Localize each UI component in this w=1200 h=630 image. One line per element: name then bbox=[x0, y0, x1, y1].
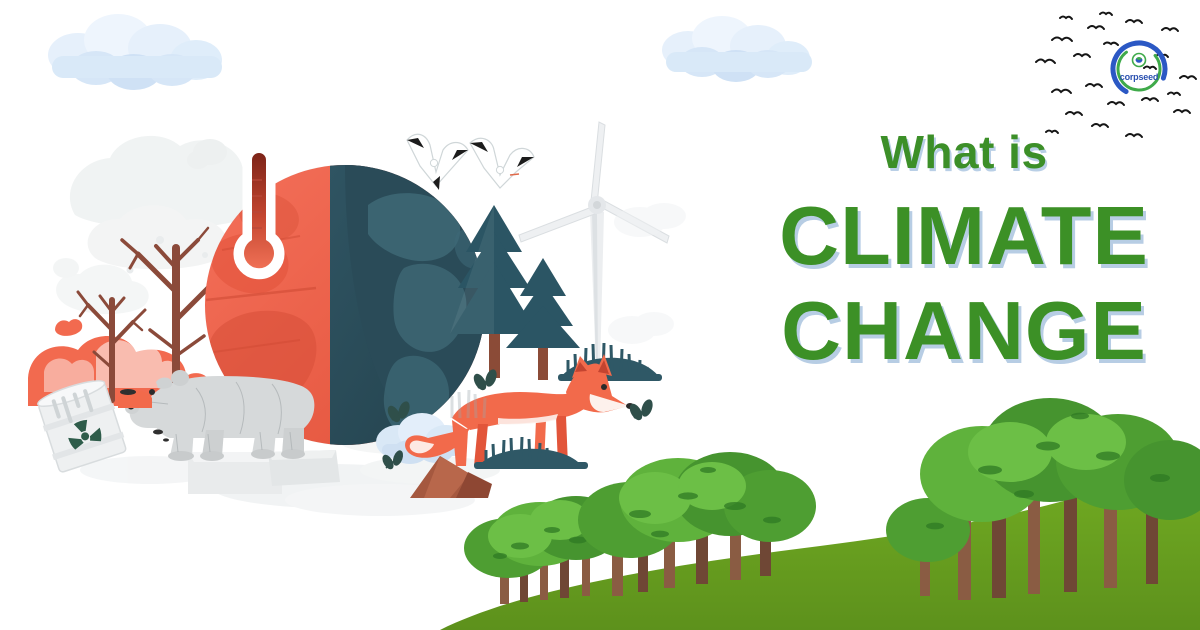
headline-line-2: CHANGE bbox=[744, 285, 1184, 378]
logo-ring-icon bbox=[1108, 38, 1170, 100]
logo-wordmark: corpseed bbox=[1108, 72, 1170, 82]
grass-tuft-fox bbox=[474, 437, 588, 469]
headline-block: What is CLIMATE CHANGE bbox=[744, 128, 1184, 378]
cloud-top-left bbox=[48, 14, 222, 90]
seagull-right bbox=[470, 138, 534, 188]
headline-line-1: CLIMATE bbox=[744, 190, 1184, 283]
seagull-left bbox=[407, 134, 468, 190]
corpseed-logo[interactable]: corpseed bbox=[1108, 38, 1170, 100]
leaf-sprig-d bbox=[471, 368, 499, 392]
bg-cloud-faint bbox=[608, 203, 686, 344]
poster-canvas: What is CLIMATE CHANGE corpseed bbox=[0, 0, 1200, 630]
cloud-top-center bbox=[662, 16, 812, 82]
headline-kicker: What is bbox=[744, 128, 1184, 176]
leaf-sprig-b bbox=[627, 398, 655, 422]
thermometer bbox=[237, 142, 281, 276]
